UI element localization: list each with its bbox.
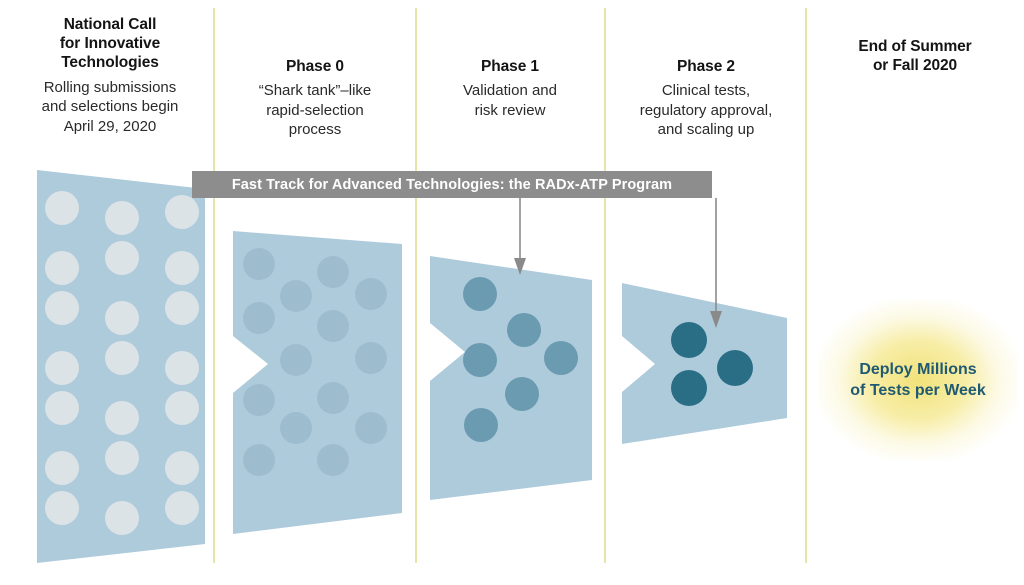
endpoint-line: of Tests per Week	[850, 380, 985, 401]
radx-funnel-diagram: National Call for Innovative Technologie…	[0, 0, 1024, 585]
funnel-stage-3	[430, 256, 592, 500]
funnel-stage-4	[622, 283, 787, 444]
endpoint-text: Deploy Millions of Tests per Week	[850, 359, 985, 401]
endpoint-line: Deploy Millions	[850, 359, 985, 380]
arrow-to-phase-1	[514, 198, 526, 275]
funnel-graphics	[0, 0, 1024, 585]
funnel-stage-1	[37, 170, 205, 563]
endpoint-callout: Deploy Millions of Tests per Week	[818, 300, 1018, 460]
fast-track-banner: Fast Track for Advanced Technologies: th…	[192, 171, 712, 198]
funnel-stage-2	[233, 231, 402, 534]
